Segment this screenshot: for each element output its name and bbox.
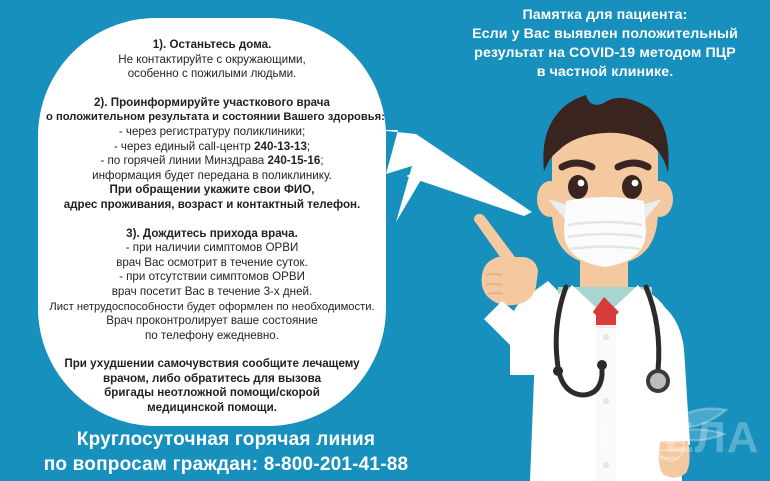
section-1-title: 1). Останьтесь дома. xyxy=(46,38,378,53)
section-3: 3). Дождитесь прихода врача. - при налич… xyxy=(46,227,378,344)
hotline-line-2: по вопросам граждан: 8-800-201-41-88 xyxy=(16,452,436,477)
section-3-line-2: врач Вас осмотрит в течение суток. xyxy=(46,256,378,271)
hotline-footer: Круглосуточная горячая линия по вопросам… xyxy=(16,427,436,477)
spacer-1 xyxy=(46,84,378,96)
header-line-2: Если у Вас выявлен положительный xyxy=(440,25,770,44)
section-1: 1). Останьтесь дома. Не контактируйте с … xyxy=(46,38,378,82)
speech-bubble-lightning-tail xyxy=(372,128,542,223)
call-center-phone: 240-13-13 xyxy=(254,140,307,153)
spacer-2 xyxy=(46,215,378,227)
pointing-hand xyxy=(474,214,542,357)
section-4-line-1: При ухудшении самочувствия сообщите леча… xyxy=(46,357,378,372)
header-line-1: Памятка для пациента: xyxy=(440,6,770,25)
header-line-4: в частной клинике. xyxy=(440,63,770,82)
minzdrav-phone: 240-15-16 xyxy=(267,154,320,167)
section-2: 2). Проинформируйте участкового врача о … xyxy=(46,96,378,213)
section-2-item-3: - по горячей линии Минздрава 240-15-16; xyxy=(46,154,378,169)
section-3-line-5: Лист нетрудоспособности будет оформлен п… xyxy=(46,300,378,315)
section-4-line-4: медицинской помощи. xyxy=(46,401,378,416)
section-2-bold-line-2: адрес проживания, возраст и контактный т… xyxy=(46,198,378,213)
face-mask-icon xyxy=(548,197,662,267)
section-3-line-3: - при отсутствии симптомов ОРВИ xyxy=(46,270,378,285)
section-4-line-2: врачом, либо обратитесь для вызова xyxy=(46,372,378,387)
speech-bubble: 1). Останьтесь дома. Не контактируйте с … xyxy=(38,18,386,426)
section-4: При ухудшении самочувствия сообщите леча… xyxy=(46,357,378,415)
section-2-bold-line-1: При обращении укажите свои ФИО, xyxy=(46,183,378,198)
section-2-item-1: - через регистратуру поликлиники; xyxy=(46,125,378,140)
speech-bubble-content: 1). Останьтесь дома. Не контактируйте с … xyxy=(38,18,386,426)
section-4-line-3: бригады неотложной помощи/скорой xyxy=(46,386,378,401)
section-3-line-4: врач посетит Вас в течение 3-х дней. xyxy=(46,285,378,300)
section-2-item-4: информация будет передана в поликлинику. xyxy=(46,169,378,184)
section-3-line-7: по телефону ежедневно. xyxy=(46,329,378,344)
section-2-title-line-2: о положительном результата и состоянии В… xyxy=(46,110,378,125)
section-1-line-2: особенно с пожилыми людьми. xyxy=(46,67,378,82)
section-2-title-line-1: 2). Проинформируйте участкового врача xyxy=(46,96,378,111)
header-line-3: результат на COVID-19 методом ПЦР xyxy=(440,44,770,63)
section-3-title: 3). Дождитесь прихода врача. xyxy=(46,227,378,242)
header-title: Памятка для пациента: Если у Вас выявлен… xyxy=(440,6,770,82)
section-1-line-1: Не контактируйте с окружающими, xyxy=(46,53,378,68)
spacer-3 xyxy=(46,345,378,357)
hotline-line-1: Круглосуточная горячая линия xyxy=(16,427,436,452)
section-3-line-1: - при наличии симптомов ОРВИ xyxy=(46,241,378,256)
section-3-line-6: Врач проконтролирует ваше состояние xyxy=(46,314,378,329)
poster-root: Памятка для пациента: Если у Вас выявлен… xyxy=(0,0,770,481)
section-2-item-2: - через единый call-центр 240-13-13; xyxy=(46,140,378,155)
